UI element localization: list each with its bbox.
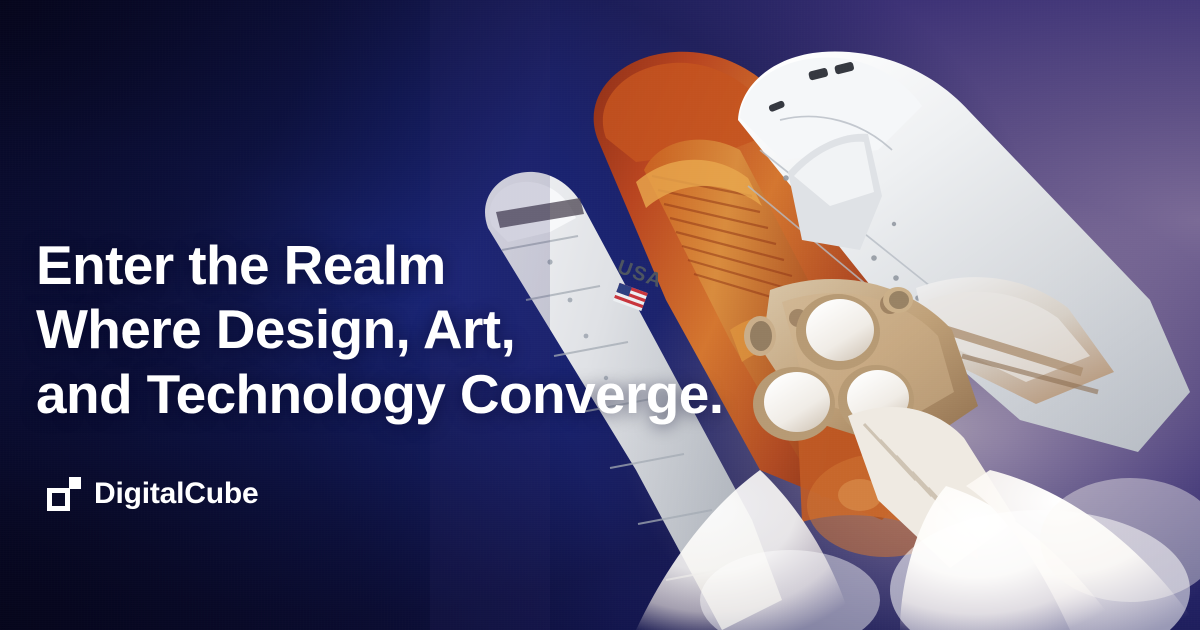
headline-line-1: Enter the Realm <box>36 233 756 298</box>
headline-line-2: Where Design, Art, <box>36 297 756 362</box>
cube-logo-icon <box>47 477 81 511</box>
brand-name: DigitalCube <box>94 479 258 509</box>
cube-small-square <box>69 477 81 489</box>
headline-line-3: and Technology Converge. <box>36 362 756 427</box>
brand-logo[interactable]: DigitalCube <box>47 477 258 511</box>
headline: Enter the Realm Where Design, Art, and T… <box>36 233 756 427</box>
og-banner: USA <box>0 0 1200 630</box>
cube-outline-square <box>47 488 70 511</box>
